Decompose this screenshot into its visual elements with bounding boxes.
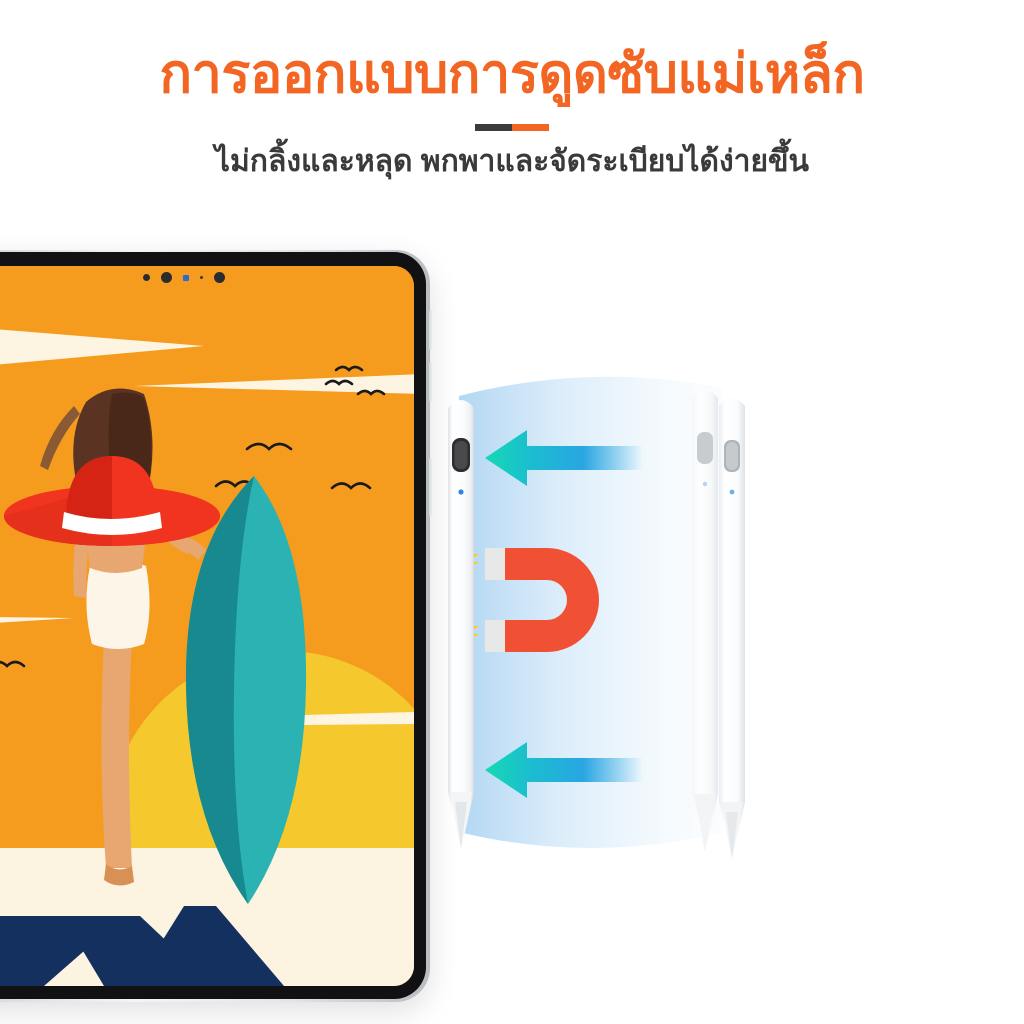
camera-sensor-array [143,272,225,283]
page-subtitle: ไม่กลิ้งและหลุด พกพาและจัดระเบียบได้ง่าย… [0,144,1024,180]
sensor-dot-icon [200,276,203,279]
led-indicator-icon [458,489,463,494]
camera-lens-large-icon [214,272,225,283]
stylus-pen-front [703,374,761,882]
camera-lens-small-icon [143,274,150,281]
led-indicator-icon [730,490,735,495]
tablet-screen[interactable] [0,266,414,986]
blue-sensor-icon [183,275,189,281]
camera-lens-large-icon [161,272,172,283]
stylus-pen-attached [430,380,492,880]
divider-segment-orange [512,124,549,131]
tablet-device [0,250,430,1002]
page-title: การออกแบบการดูดซับแม่เหล็ก [0,46,1024,103]
volume-up-button[interactable] [429,310,433,350]
product-feature-banner: การออกแบบการดูดซับแม่เหล็ก ไม่กลิ้งและหล… [0,0,1024,1024]
title-divider [475,124,549,131]
divider-segment-dark [475,124,512,131]
wallpaper-illustration [0,266,414,986]
